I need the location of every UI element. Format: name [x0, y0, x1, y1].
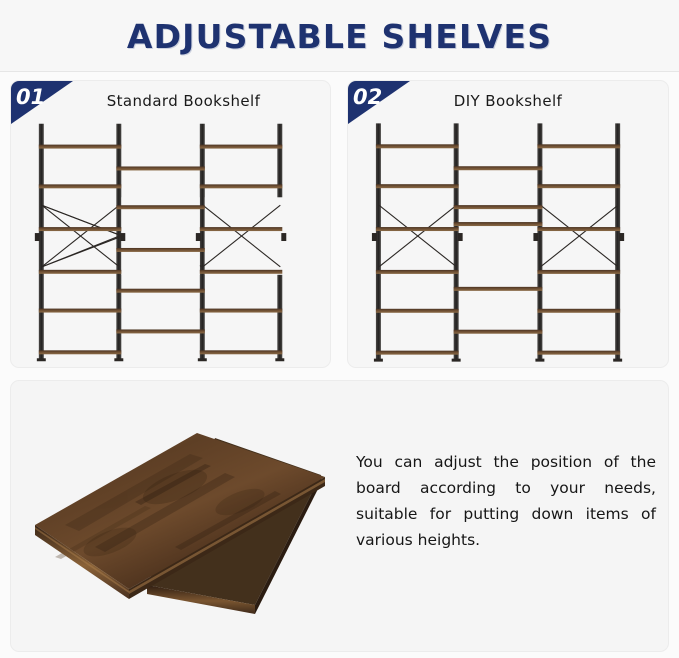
- board-description-text: You can adjust the position of the board…: [356, 449, 656, 553]
- badge-number: 02: [353, 87, 382, 108]
- wood-board-photo: [25, 407, 345, 622]
- page-title: ADJUSTABLE SHELVES: [127, 17, 552, 56]
- panel-standard-bookshelf: 01 Standard Bookshelf: [10, 80, 331, 368]
- header-divider: [0, 71, 679, 72]
- panel-badge-01: 01: [11, 81, 73, 124]
- panel-badge-02: 02: [348, 81, 410, 124]
- bookshelf-diagram-standard: [11, 117, 330, 367]
- panel-diy-bookshelf: 02 DIY Bookshelf: [347, 80, 669, 368]
- badge-number: 01: [16, 87, 45, 108]
- panel-board-description: You can adjust the position of the board…: [10, 380, 669, 652]
- page-header: ADJUSTABLE SHELVES: [0, 0, 679, 72]
- bookshelf-diagram-diy: [348, 117, 668, 367]
